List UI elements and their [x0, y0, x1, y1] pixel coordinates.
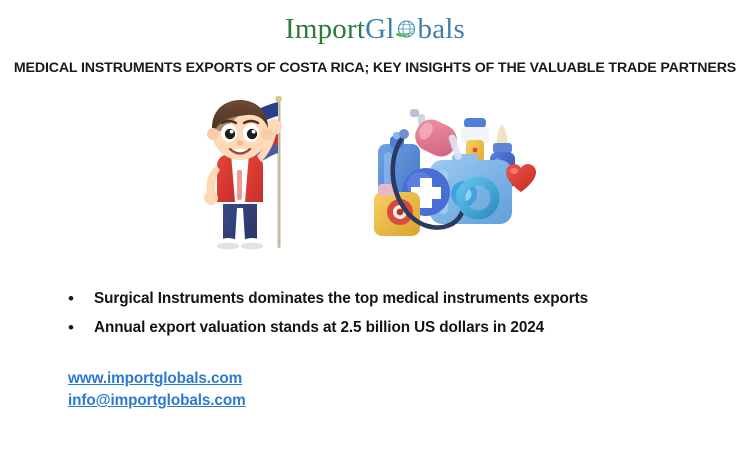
boy-holding-flag-illustration: [165, 96, 315, 261]
illustration-band: [0, 96, 750, 266]
website-link[interactable]: www.importglobals.com: [68, 368, 242, 390]
email-link[interactable]: info@importglobals.com: [68, 390, 246, 412]
globe-icon: [394, 16, 419, 41]
brand-logo: ImportGl bals: [0, 12, 750, 46]
contact-links: www.importglobals.com info@importglobals…: [68, 368, 246, 412]
list-item: • Annual export valuation stands at 2.5 …: [68, 316, 728, 340]
medical-equipment-illustration: [360, 100, 540, 258]
list-item: • Surgical Instruments dominates the top…: [68, 287, 728, 311]
bullet-icon: •: [68, 316, 94, 340]
list-item-text: Surgical Instruments dominates the top m…: [94, 287, 588, 311]
bullet-icon: •: [68, 287, 94, 311]
page-title: MEDICAL INSTRUMENTS EXPORTS OF COSTA RIC…: [0, 58, 750, 78]
logo-text-bals: bals: [418, 13, 466, 45]
logo-text-gl: Gl: [365, 13, 394, 45]
list-item-text: Annual export valuation stands at 2.5 bi…: [94, 316, 544, 340]
logo-text-import: Import: [285, 13, 365, 45]
key-insights-list: • Surgical Instruments dominates the top…: [68, 287, 728, 345]
